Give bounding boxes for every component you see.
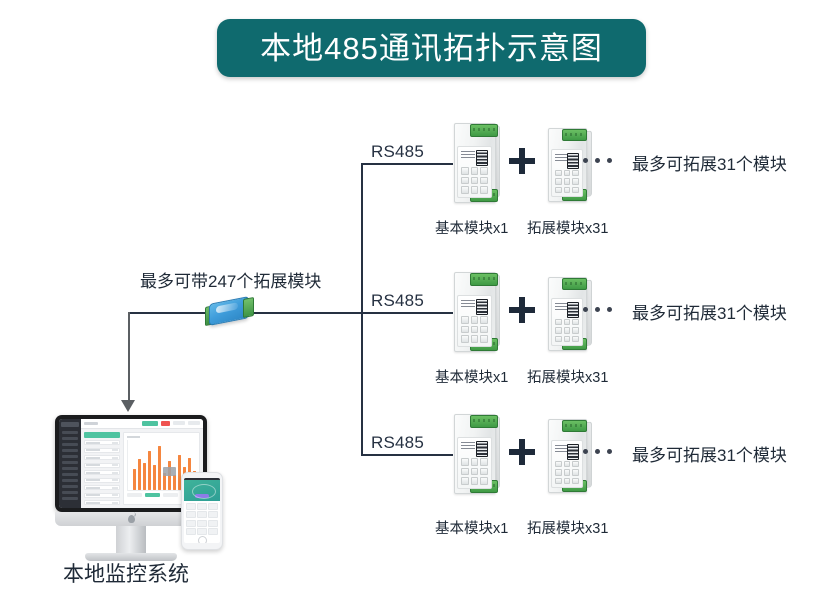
rs485-converter <box>205 297 253 327</box>
expansion-module-1 <box>543 120 595 210</box>
ext-face-2 <box>551 298 583 346</box>
bus-vertical-line <box>361 163 363 455</box>
module-label-strip-3 <box>461 442 475 451</box>
dashboard-primary-button <box>142 421 158 426</box>
ext-button-grid-2 <box>555 319 579 342</box>
dashboard-breadcrumb <box>84 422 98 425</box>
dashboard-secondary-button <box>173 421 185 425</box>
branch-note-3: 最多可拓展31个模块 <box>632 441 787 466</box>
base-module-caption-3: 基本模块x1 <box>435 517 508 538</box>
system-caption: 本地监控系统 <box>63 558 189 588</box>
base-module-1 <box>448 114 504 210</box>
ext-face-1 <box>551 149 583 197</box>
pc-drop-line <box>128 312 130 402</box>
ext-terminal-top-1 <box>562 129 587 141</box>
dashboard-user-button <box>188 421 200 425</box>
ext-body-1 <box>548 128 587 202</box>
converter-capacity-note: 最多可带247个拓展模块 <box>140 267 321 292</box>
module-body-2 <box>454 272 496 352</box>
expansion-module-caption-1: 拓展模块x31 <box>527 217 608 238</box>
ext-dip-switch-1 <box>567 153 579 169</box>
phone-hero-panel <box>184 480 220 500</box>
branch-line-2 <box>361 312 453 314</box>
expansion-module-caption-3: 拓展模块x31 <box>527 517 608 538</box>
ellipsis-2 <box>583 307 612 312</box>
base-module-caption-2: 基本模块x1 <box>435 366 508 387</box>
monitor-stand-neck <box>116 526 146 553</box>
rs485-label-1: RS485 <box>371 142 424 162</box>
phone-screen <box>184 478 220 543</box>
ellipsis-1 <box>583 158 612 163</box>
dashboard-chart-title <box>127 436 140 439</box>
branch-line-3 <box>361 454 453 456</box>
ext-button-grid-1 <box>555 170 579 193</box>
ext-terminal-top-2 <box>562 278 587 290</box>
phone-action-button <box>195 494 209 498</box>
base-module-caption-1: 基本模块x1 <box>435 217 508 238</box>
dashboard-list-header <box>84 432 120 438</box>
expansion-module-3 <box>543 411 595 501</box>
dashboard-alert-badge <box>161 421 170 426</box>
module-button-grid-1 <box>461 167 488 194</box>
module-button-grid-2 <box>461 316 488 343</box>
phone-card-grid <box>184 501 220 538</box>
pc-arrow-head <box>121 400 135 412</box>
module-terminal-top-3 <box>470 415 498 428</box>
base-module-3 <box>448 405 504 501</box>
dashboard-toolbar <box>81 419 203 429</box>
expansion-module-2 <box>543 269 595 359</box>
phone-home-button <box>184 537 220 543</box>
plus-sign-1 <box>509 148 535 174</box>
ext-body-2 <box>548 277 587 351</box>
module-face-1 <box>457 146 492 198</box>
converter-terminal-right <box>243 297 254 318</box>
ext-terminal-top-3 <box>562 420 587 432</box>
ext-face-3 <box>551 440 583 488</box>
module-body-3 <box>454 414 496 494</box>
module-terminal-top-1 <box>470 124 498 137</box>
module-face-3 <box>457 437 492 489</box>
dip-switch-3 <box>476 441 488 457</box>
ext-dip-switch-3 <box>567 444 579 460</box>
module-button-grid-3 <box>461 458 488 485</box>
module-face-2 <box>457 295 492 347</box>
base-module-2 <box>448 263 504 359</box>
mobile-phone <box>181 472 223 550</box>
ext-body-3 <box>548 419 587 493</box>
title-banner: 本地485通讯拓扑示意图 <box>217 19 646 77</box>
module-label-strip-1 <box>461 151 475 160</box>
dashboard-sidebar <box>59 419 81 508</box>
module-body-1 <box>454 123 496 203</box>
branch-line-1 <box>361 163 453 165</box>
module-label-strip-2 <box>461 300 475 309</box>
ellipsis-3 <box>583 449 612 454</box>
plus-sign-3 <box>509 439 535 465</box>
page-title: 本地485通讯拓扑示意图 <box>260 33 603 64</box>
ext-button-grid-3 <box>555 461 579 484</box>
dip-switch-2 <box>476 299 488 315</box>
rs485-label-2: RS485 <box>371 291 424 311</box>
module-terminal-top-2 <box>470 273 498 286</box>
apple-logo-icon <box>128 515 135 523</box>
dashboard-brand-logo <box>61 422 79 427</box>
expansion-module-caption-2: 拓展模块x31 <box>527 366 608 387</box>
rs485-label-3: RS485 <box>371 433 424 453</box>
plus-sign-2 <box>509 297 535 323</box>
dashboard-chart-tooltip <box>163 467 176 476</box>
dip-switch-1 <box>476 150 488 166</box>
ext-dip-switch-2 <box>567 302 579 318</box>
branch-note-2: 最多可拓展31个模块 <box>632 299 787 324</box>
dashboard-device-list <box>84 432 120 506</box>
branch-note-1: 最多可拓展31个模块 <box>632 150 787 175</box>
diagram-canvas: 本地485通讯拓扑示意图 RS485 RS485 RS485 最多可带247个拓… <box>0 0 815 605</box>
